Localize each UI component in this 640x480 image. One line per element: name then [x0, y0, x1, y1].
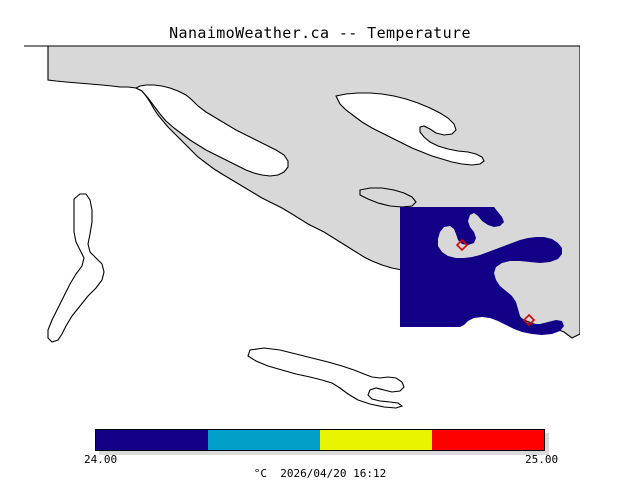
legend-bar-wrapper [95, 429, 545, 451]
map-panel [24, 44, 580, 410]
legend-band-yellow[interactable] [320, 430, 432, 450]
legend-min-label: 24.00 [84, 453, 117, 466]
map-canvas [24, 44, 580, 410]
weather-map-page: NanaimoWeather.ca -- Temperature [0, 0, 640, 480]
legend-band-cyan[interactable] [208, 430, 320, 450]
colour-legend: 24.00 25.00 °C 2026/04/20 16:12 [0, 425, 640, 480]
legend-colour-bar[interactable] [95, 429, 545, 451]
page-title: NanaimoWeather.ca -- Temperature [0, 24, 640, 42]
legend-band-navy[interactable] [96, 430, 208, 450]
legend-caption: °C 2026/04/20 16:12 [0, 467, 640, 480]
legend-band-red[interactable] [432, 430, 544, 450]
legend-max-label: 25.00 [525, 453, 558, 466]
